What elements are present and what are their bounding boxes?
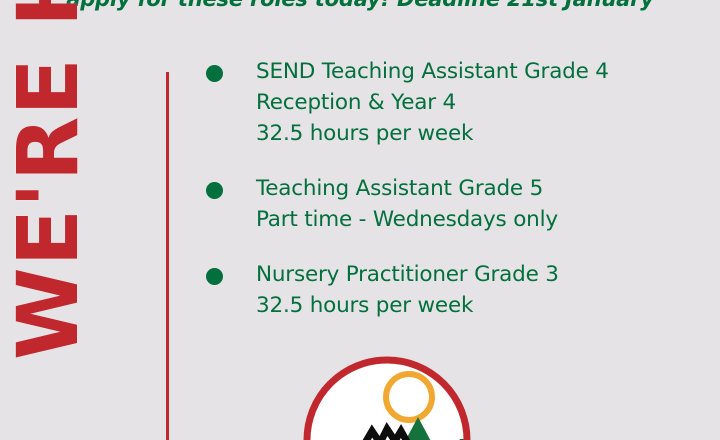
list-item: Nursery Practitioner Grade 3 32.5 hours … [200, 259, 700, 321]
role-detail: Part time - Wednesdays only [256, 204, 700, 235]
role-hours: 32.5 hours per week [256, 290, 700, 321]
bullet-dot-icon [206, 65, 223, 82]
list-item: Teaching Assistant Grade 5 Part time - W… [200, 173, 700, 235]
vertical-divider [166, 72, 169, 440]
roles-list: SEND Teaching Assistant Grade 4 Receptio… [200, 56, 700, 345]
bullet-dot-icon [206, 268, 223, 285]
vertical-banner: WE'RE HIRING [0, 0, 103, 360]
role-title: Teaching Assistant Grade 5 [256, 173, 700, 204]
list-item: SEND Teaching Assistant Grade 4 Receptio… [200, 56, 700, 149]
poster-canvas: apply for these roles today! Deadline 21… [0, 0, 720, 440]
mountain-sun-trees-circle-logo [298, 351, 476, 440]
page-title: apply for these roles today! Deadline 21… [0, 0, 720, 12]
role-title: SEND Teaching Assistant Grade 4 [256, 56, 700, 87]
vertical-banner-label: WE'RE HIRING [0, 0, 103, 360]
role-title: Nursery Practitioner Grade 3 [256, 259, 700, 290]
bullet-dot-icon [206, 182, 223, 199]
role-hours: 32.5 hours per week [256, 118, 700, 149]
role-detail: Reception & Year 4 [256, 87, 700, 118]
